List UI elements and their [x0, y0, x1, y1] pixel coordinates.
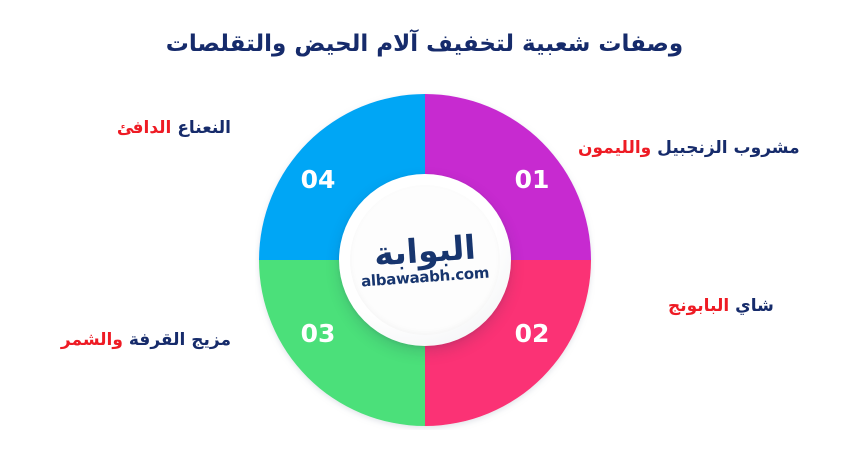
donut-segment-02-number: 02: [515, 319, 550, 348]
donut-chart: 01 02 03 04 البوابة albawaabh.com: [255, 90, 595, 430]
segment-label-04: النعناع الدافئ: [86, 118, 231, 138]
segment-label-03-red: والشمر: [61, 330, 123, 350]
donut-segment-04-number: 04: [301, 165, 336, 194]
segment-label-01-navy: مشروب الزنجبيل: [657, 138, 799, 158]
segment-label-02: شاي البابونج: [668, 296, 774, 316]
infographic-canvas: وصفات شعبية لتخفيف آلام الحيض والتقلصات …: [0, 0, 849, 453]
segment-label-03-navy: مزيج القرفة: [129, 330, 231, 350]
segment-label-03: مزيج القرفة والشمر: [36, 330, 231, 350]
segment-label-01: مشروب الزنجبيل والليمون: [578, 138, 800, 158]
segment-label-02-red: البابونج: [668, 296, 729, 316]
segment-label-01-red: والليمون: [578, 138, 651, 158]
segment-label-02-navy: شاي: [735, 296, 774, 316]
segment-label-04-red: الدافئ: [117, 118, 172, 138]
center-logo-disc: البوابة albawaabh.com: [339, 174, 511, 346]
donut-segment-01-number: 01: [515, 165, 550, 194]
page-title: وصفات شعبية لتخفيف آلام الحيض والتقلصات: [0, 30, 849, 60]
donut-segment-03-number: 03: [301, 319, 336, 348]
logo-inner-circle: البوابة albawaabh.com: [350, 185, 500, 335]
segment-label-04-navy: النعناع: [177, 118, 231, 138]
